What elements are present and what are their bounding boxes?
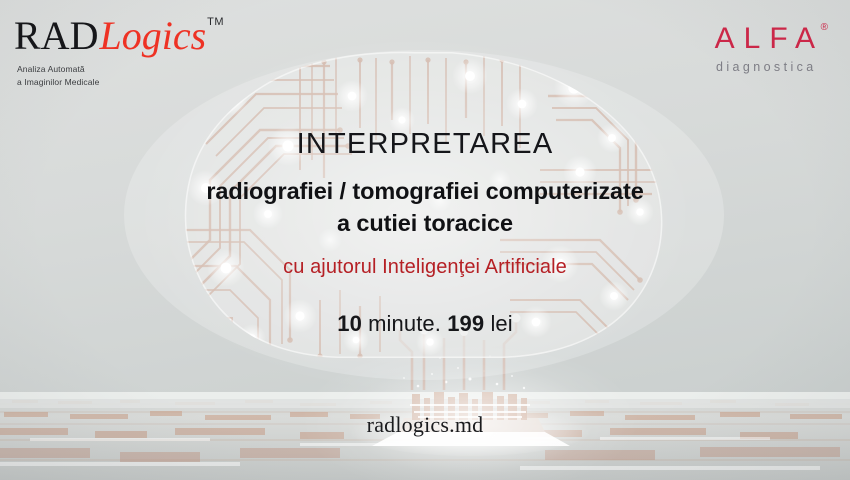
trademark-symbol: TM xyxy=(207,16,224,28)
radlogics-tagline-line2: a Imaginilor Medicale xyxy=(17,76,223,89)
headline-title: radiografiei / tomografiei computerizate… xyxy=(0,176,850,239)
headline-title-line1: radiografiei / tomografiei computerizate xyxy=(0,176,850,207)
radlogics-tagline-line1: Analiza Automată xyxy=(17,63,223,76)
radlogics-word-logics: Logics xyxy=(99,13,206,58)
headline-subtitle: cu ajutorul Inteligenţei Artificiale xyxy=(0,256,850,279)
offer-duration-unit: minute. xyxy=(368,311,441,336)
offer-duration-value: 10 xyxy=(337,311,362,336)
offer-line: 10 minute. 199 lei xyxy=(0,311,850,337)
headline-eyebrow: INTERPRETAREA xyxy=(0,128,850,160)
website-url[interactable]: radlogics.md xyxy=(0,412,850,438)
offer-price-currency: lei xyxy=(490,311,512,336)
poster-canvas: RADLogicsTM Analiza Automată a Imaginilo… xyxy=(0,0,850,480)
offer-price-value: 199 xyxy=(447,311,484,336)
radlogics-tagline: Analiza Automată a Imaginilor Medicale xyxy=(17,63,223,89)
registered-icon: ® xyxy=(821,23,828,33)
headline-block: INTERPRETAREA radiografiei / tomografiei… xyxy=(0,128,850,337)
radlogics-word-rad: RAD xyxy=(14,13,98,58)
alfa-subtitle: diagnostica xyxy=(706,61,824,74)
alfa-wordmark-text: ALFA xyxy=(715,22,824,55)
alfa-diagnostica-logo: ALFA® diagnostica xyxy=(706,24,824,74)
alfa-wordmark: ALFA® xyxy=(706,24,824,54)
radlogics-logo: RADLogicsTM Analiza Automată a Imaginilo… xyxy=(14,16,223,89)
headline-title-line2: a cutiei toracice xyxy=(0,208,850,239)
radlogics-wordmark: RADLogicsTM xyxy=(14,16,223,56)
